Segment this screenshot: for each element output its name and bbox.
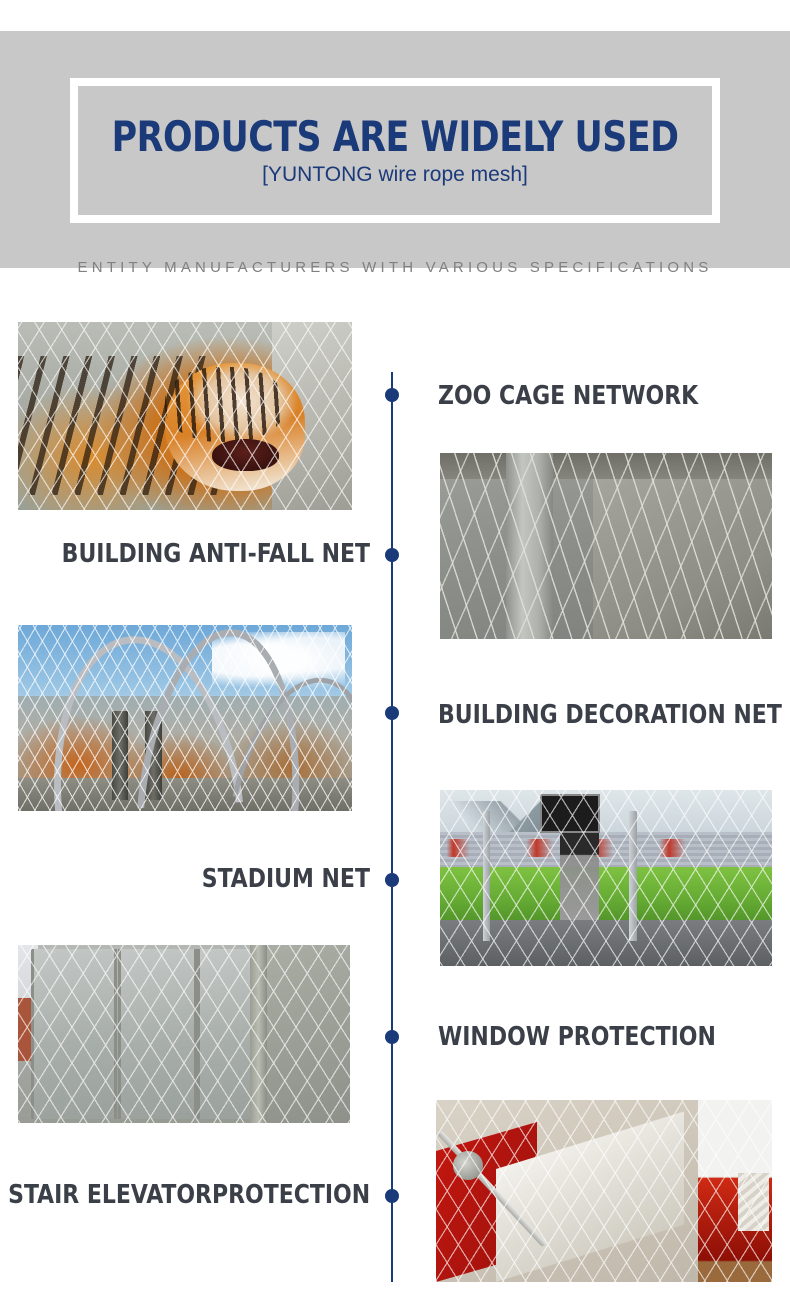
page-subtitle: [YUNTONG wire rope mesh] xyxy=(262,164,528,185)
window-protection-photo xyxy=(18,945,350,1123)
page-tagline: ENTITY MANUFACTURERS WITH VARIOUS SPECIF… xyxy=(0,259,790,276)
timeline-dot-6 xyxy=(385,1189,399,1203)
item-label-building-anti-fall-net: BUILDING ANTI-FALL NET xyxy=(62,541,370,567)
item-label-building-decoration-net: BUILDING DECORATION NET xyxy=(438,702,782,728)
header-title-frame: PRODUCTS ARE WIDELY USED [YUNTONG wire r… xyxy=(70,78,720,223)
item-label-stair-elevator-protection: STAIR ELEVATORPROTECTION xyxy=(8,1182,370,1208)
page-title: PRODUCTS ARE WIDELY USED xyxy=(112,116,679,158)
stair-elevator-protection-photo xyxy=(436,1100,772,1282)
zoo-cage-network-photo xyxy=(440,453,772,639)
stadium-net-photo xyxy=(440,790,772,966)
timeline-axis xyxy=(391,372,393,1282)
building-decoration-net-photo xyxy=(18,625,352,811)
header-banner: PRODUCTS ARE WIDELY USED [YUNTONG wire r… xyxy=(0,31,790,268)
item-label-window-protection: WINDOW PROTECTION xyxy=(438,1024,716,1050)
timeline-dot-5 xyxy=(385,1030,399,1044)
timeline-dot-1 xyxy=(385,388,399,402)
item-label-zoo-cage-network: ZOO CAGE NETWORK xyxy=(438,383,698,409)
timeline-dot-4 xyxy=(385,873,399,887)
timeline-dot-2 xyxy=(385,548,399,562)
timeline-dot-3 xyxy=(385,706,399,720)
item-label-stadium-net: STADIUM NET xyxy=(202,866,370,892)
building-anti-fall-net-photo xyxy=(18,322,352,510)
